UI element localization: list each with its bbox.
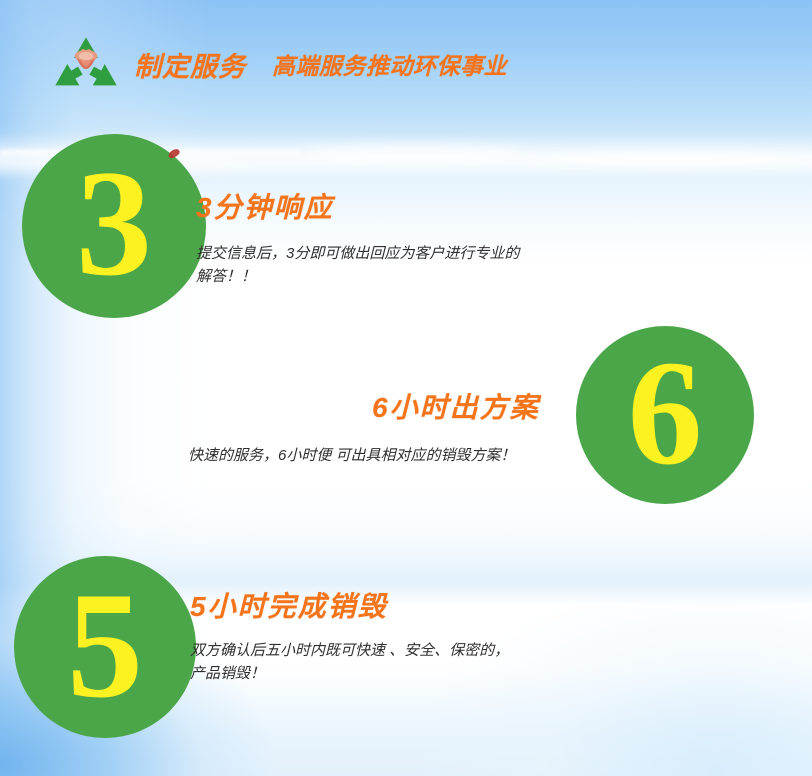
step-body-line: 快速的服务，6小时便 可出具相对应的销毁方案！ <box>188 444 540 467</box>
promo-poster: 制定服务 高端服务推动环保事业 3 3分钟响应 提交信息后，3分即可做出回应为客… <box>0 0 812 776</box>
step-number: 5 <box>67 569 143 721</box>
step-number: 6 <box>628 338 703 488</box>
step-circle-6: 6 <box>576 326 754 504</box>
recycle-flower-icon <box>52 36 120 92</box>
step-body-line: 产品销毁！ <box>190 662 509 685</box>
step-block-3: 3分钟响应 提交信息后，3分即可做出回应为客户进行专业的 解答！！ <box>196 186 519 289</box>
step-body-line: 双方确认后五小时内既可快速 、安全、保密的， <box>190 639 509 662</box>
step-body-line: 解答！！ <box>196 265 519 288</box>
step-body-line: 提交信息后，3分即可做出回应为客户进行专业的 <box>196 242 519 265</box>
step-body: 双方确认后五小时内既可快速 、安全、保密的， 产品销毁！ <box>190 639 509 686</box>
step-block-6: 6小时出方案 快速的服务，6小时便 可出具相对应的销毁方案！ <box>188 386 540 467</box>
step-number: 3 <box>76 147 152 299</box>
step-heading: 3分钟响应 <box>196 186 519 226</box>
page-subtitle: 高端服务推动环保事业 <box>272 47 507 81</box>
header: 制定服务 高端服务推动环保事业 <box>52 36 507 92</box>
step-body: 提交信息后，3分即可做出回应为客户进行专业的 解答！！ <box>196 242 519 289</box>
step-body: 快速的服务，6小时便 可出具相对应的销毁方案！ <box>188 444 540 467</box>
step-heading: 6小时出方案 <box>372 386 540 426</box>
step-circle-5: 5 <box>14 556 196 738</box>
step-heading: 5小时完成销毁 <box>190 585 509 625</box>
step-block-5: 5小时完成销毁 双方确认后五小时内既可快速 、安全、保密的， 产品销毁！ <box>190 585 509 686</box>
page-title: 制定服务 <box>134 45 246 84</box>
cloud-streak <box>300 146 530 162</box>
step-circle-3: 3 <box>22 134 206 318</box>
cloud-streak <box>520 152 812 165</box>
